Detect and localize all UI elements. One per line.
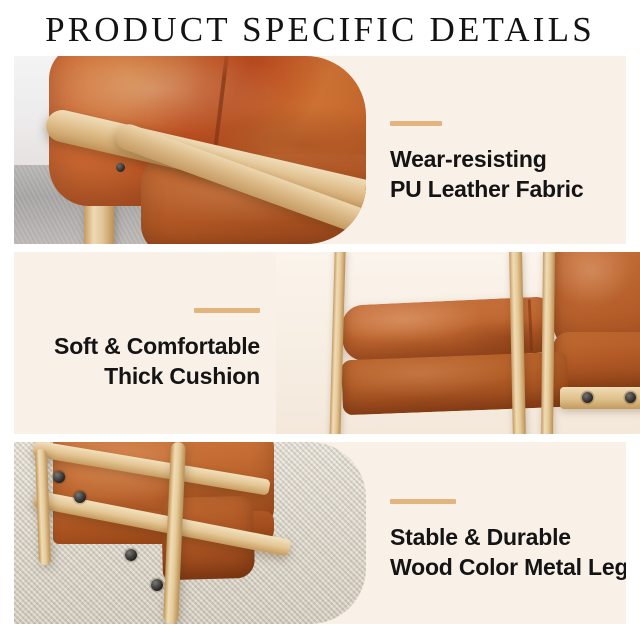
detail-panel-2: Soft & Comfortable Thick Cushion xyxy=(14,252,640,434)
panel-2-text-block: Soft & Comfortable Thick Cushion xyxy=(30,308,260,391)
accent-rule xyxy=(390,121,442,126)
panel-2-photo xyxy=(276,252,640,434)
panel-3-headline-line1: Stable & Durable xyxy=(390,522,626,552)
metal-bolt-icon xyxy=(151,579,163,591)
detail-panel-3: Stable & Durable Wood Color Metal Leg xyxy=(14,442,626,624)
leather-seam xyxy=(527,300,532,352)
accent-rule xyxy=(194,308,260,313)
leather-seat xyxy=(341,351,569,414)
wood-frame-post-right xyxy=(541,252,555,434)
page-title: PRODUCT SPECIFIC DETAILS xyxy=(0,8,640,52)
panel-3-photo xyxy=(14,442,366,624)
panel-3-text-block: Stable & Durable Wood Color Metal Leg xyxy=(390,499,626,582)
panel-1-text-block: Wear-resisting PU Leather Fabric xyxy=(390,121,620,204)
metal-bolt-icon xyxy=(53,471,65,483)
panel-3-headline-line2: Wood Color Metal Leg xyxy=(390,552,626,582)
accent-rule xyxy=(390,499,456,504)
panel-1-headline-line1: Wear-resisting xyxy=(390,144,620,174)
panel-2-headline-line2: Thick Cushion xyxy=(30,361,260,391)
detail-panel-1: Wear-resisting PU Leather Fabric xyxy=(14,56,626,244)
panel-1-photo xyxy=(14,56,366,244)
panel-1-headline-line2: PU Leather Fabric xyxy=(390,174,620,204)
metal-bolt-icon xyxy=(74,491,86,503)
panel-2-headline-line1: Soft & Comfortable xyxy=(30,331,260,361)
metal-bolt-icon xyxy=(582,392,593,403)
